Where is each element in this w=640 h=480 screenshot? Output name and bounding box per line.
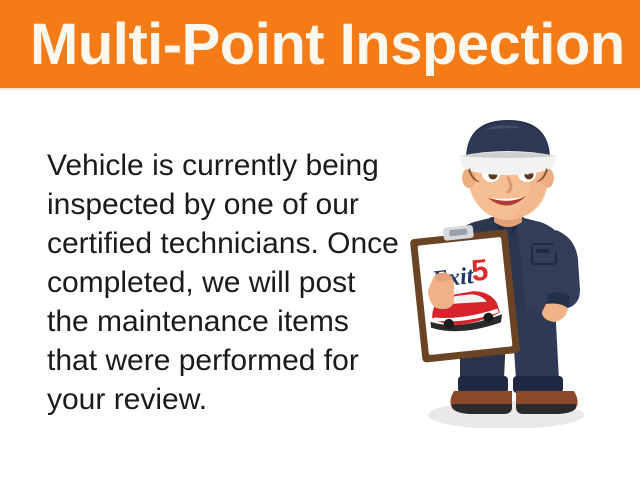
body-paragraph: Vehicle is currently being inspected by … — [47, 146, 399, 419]
page-title: Multi-Point Inspection — [30, 12, 625, 78]
header-underline-divider — [0, 88, 640, 92]
left-shoe-sole — [452, 404, 512, 414]
shirt-pocket-flap — [536, 249, 549, 253]
right-shoe-sole — [516, 404, 576, 414]
right-pant-cuff — [513, 376, 563, 393]
clipboard-icon: Exit 5 — [410, 225, 520, 363]
mechanic-illustration: Exit 5 — [398, 118, 630, 428]
header-banner: Multi-Point Inspection — [0, 0, 640, 88]
left-pant-cuff — [458, 376, 508, 393]
clipboard-logo-number: 5 — [470, 254, 490, 289]
